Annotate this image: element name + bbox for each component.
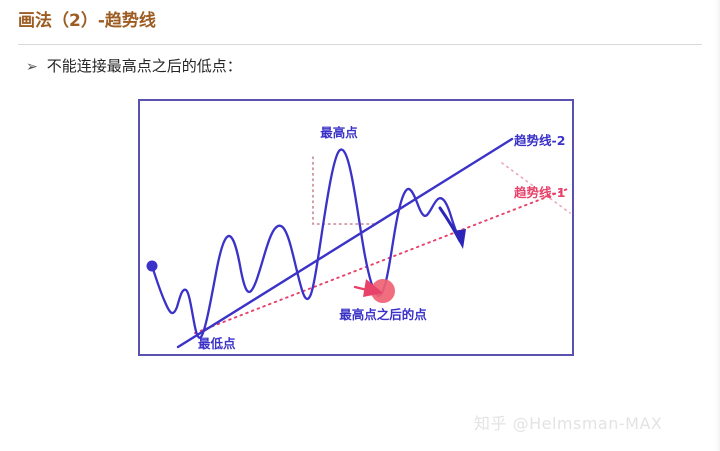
label-trend-line-2: 趋势线-2 bbox=[514, 133, 565, 148]
bullet-row: ➢ 不能连接最高点之后的低点： bbox=[26, 55, 242, 77]
label-highest-point: 最高点 bbox=[320, 125, 358, 140]
chart-frame: 最高点 最低点 最高点之后的点 趋势线-2 趋势线-1 bbox=[138, 99, 574, 356]
title-block: 画法（2）-趋势线 bbox=[18, 10, 578, 32]
highest-point-drop-guide bbox=[313, 157, 376, 224]
watermark: 知乎 @Helmsman-MAX bbox=[474, 410, 662, 434]
page-title: 画法（2）-趋势线 bbox=[18, 10, 578, 32]
title-divider bbox=[18, 44, 702, 45]
label-point-after-highest: 最高点之后的点 bbox=[339, 307, 427, 322]
bullet-arrow-icon: ➢ bbox=[26, 55, 38, 77]
label-trend-line-1: 趋势线-1 bbox=[514, 185, 565, 200]
blue-down-arrow-head bbox=[453, 229, 466, 249]
trendline-chart: 最高点 最低点 最高点之后的点 趋势线-2 趋势线-1 bbox=[140, 101, 572, 354]
page-edge bbox=[714, 0, 720, 451]
start-point-marker bbox=[147, 261, 158, 272]
label-lowest-point: 最低点 bbox=[198, 336, 236, 351]
slide-canvas: 画法（2）-趋势线 ➢ 不能连接最高点之后的低点： bbox=[0, 0, 720, 451]
bullet-text: 不能连接最高点之后的低点： bbox=[47, 55, 242, 77]
